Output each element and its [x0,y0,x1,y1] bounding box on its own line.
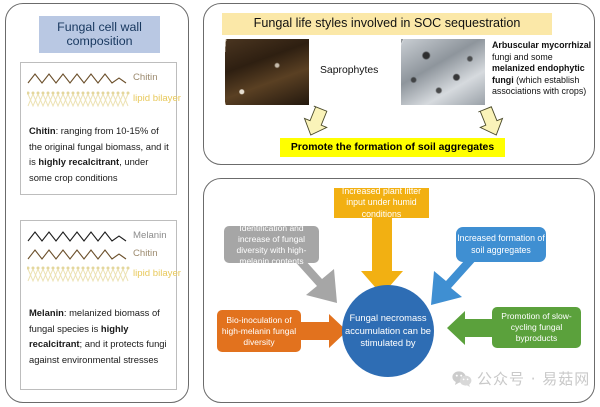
central-necromass-circle: Fungal necromass accumulation can be sti… [342,285,434,377]
lipid-bilayer-label: lipid bilayer [133,93,181,104]
lipid-bilayer-icon [27,90,130,110]
yellow-arrow-left-icon [300,105,333,140]
wechat-icon [452,370,472,387]
green-left-arrow-icon [447,311,494,345]
yellow-arrow-right-icon [475,105,508,140]
amf-normal-1: fungi and some [492,52,553,62]
box-increased-plant-litter: Increased plant litter input under humid… [334,188,429,218]
melanin-layer-label: Melanin [133,230,167,241]
box-promotion-slow-cycling: Promotion of slow-cycling fungal byprodu… [492,307,581,348]
box-bio-inoculation: Bio-inoculation of high-melanin fungal d… [217,310,301,352]
chitin-zigzag-icon [27,71,130,88]
mycorrhizal-fungi-photo [401,39,485,105]
chitin-layer-diagram: Chitin lipid bilayer [27,71,172,109]
promote-soil-aggregates-banner: Promote the formation of soil aggregates [280,138,505,157]
melanin-caption: Melanin: melanized biomass of fungal spe… [29,305,170,367]
saprophytes-photo [225,39,309,105]
watermark-text: 公众号 · 易菇网 [477,368,590,389]
melanin-layer-diagram: Melanin Chitin lipid bila [27,229,172,287]
melanin-chitin-label: Chitin [133,248,158,259]
orange-down-arrow-icon [361,217,403,295]
chitin-caption-bold-1: Chitin [29,125,56,136]
box-increased-soil-aggregates: Increased formation of soil aggregates [456,227,546,262]
top-panel-title: Fungal life styles involved in SOC seque… [222,13,552,35]
box-identification-fungal-diversity: Identification and increase of fungal di… [224,226,319,263]
orange-right-arrow-icon [300,314,347,348]
saprophytes-label: Saprophytes [320,65,378,76]
mycorrhizal-description: Arbuscular mycorrhizal fungi and some me… [492,40,596,98]
chitin-composition-box: Chitin lipid bilayer Chitin: ranging f [20,62,177,195]
melanin-chitin-zigzag-icon [27,247,130,264]
chitin-layer-label: Chitin [133,72,158,83]
melanin-lipid-bilayer-label: lipid bilayer [133,268,181,279]
melanin-composition-box: Melanin Chitin lipid bila [20,220,177,390]
chitin-caption-bold-2: highly recalcitrant [38,156,119,167]
left-panel-title: Fungal cell wall composition [39,16,160,53]
fungal-cell-wall-panel: Fungal cell wall composition Chitin [5,3,189,403]
amf-bold-1: Arbuscular mycorrhizal [492,40,591,50]
chitin-caption: Chitin: ranging from 10-15% of the origi… [29,123,170,185]
melanin-caption-bold-1: Melanin [29,307,64,318]
fungal-life-styles-panel: Fungal life styles involved in SOC seque… [203,3,595,165]
melanin-zigzag-icon [27,229,130,246]
watermark: 公众号 · 易菇网 [452,368,590,389]
melanin-lipid-bilayer-icon [27,265,130,285]
